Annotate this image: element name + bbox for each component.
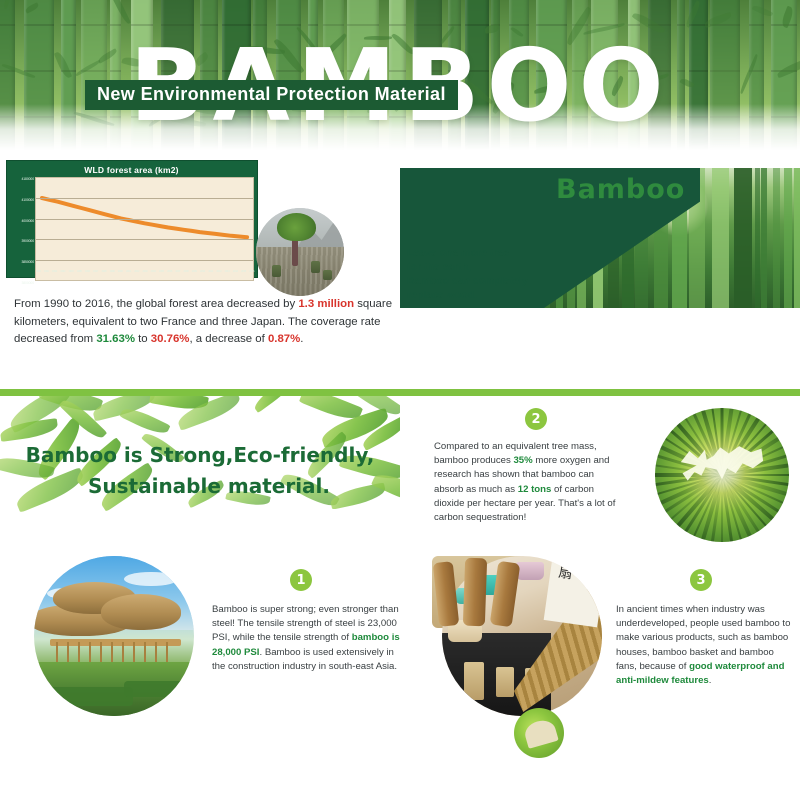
bamboo-cane [784,168,792,308]
bamboo-leaf [107,0,131,25]
chart-line-series [36,178,253,280]
forest-loss-paragraph: From 1990 to 2016, the global forest are… [14,296,394,349]
chart-x-tick-label: 2010 [198,270,206,278]
stat-co2: 12 tons [518,484,552,495]
chart-gridline [36,219,253,220]
photo-stump [311,261,320,273]
chart-x-tick-label: 2016 [248,270,256,278]
stat-coverage-before: 31.63% [96,333,135,345]
chart-x-tick-label: 2003 [141,270,149,278]
photo-stump [272,265,281,277]
chart-gridline [36,198,253,199]
garden-hedge [124,681,185,697]
bamboo-package [496,667,514,697]
stat-coverage-after: 30.76% [151,333,190,345]
bamboo-leaf [703,12,732,28]
bamboo-leaf [0,418,59,442]
lead-text-1: From 1990 to 2016, the global forest are… [14,298,280,310]
bamboo-leaf [251,396,297,413]
banner-wordmark: Bamboo [556,174,685,205]
bamboo-house-photo [34,556,194,716]
lead-text-7: a decrease of [196,333,268,345]
chart-x-tick-label: 2012 [215,270,223,278]
chart-y-tick-label: 4180000 [21,177,34,181]
garden-hedge [50,687,133,706]
bamboo-leaf [24,2,39,13]
stat-decrease: 0.87% [268,333,300,345]
lead-text-5: to [135,333,151,345]
chart-x-tick-label: 2007 [174,270,182,278]
chart-plot-area [35,177,254,281]
bamboo-cane [773,168,780,308]
chart-y-tick-label: 3850000 [21,260,34,264]
chart-x-tick-label: 2002 [133,270,141,278]
house-roof-right [101,594,181,629]
section-heading: Bamboo is Strong,Eco-friendly, Sustainab… [0,440,400,502]
chart-x-tick-label: 1996 [83,270,91,278]
bamboo-forest-banner: Bamboo Leave one more tree for the earth… [400,168,800,308]
chart-x-tick-label: 2005 [157,270,165,278]
fan-paper: 扇 [544,556,602,627]
bamboo-box [516,562,544,580]
badge-number-2: 2 [525,408,547,430]
chart-x-tick-label: 2014 [231,270,239,278]
chart-y-tick-label: 3800000 [21,281,34,285]
chart-x-tick-label: 1990 [34,270,42,278]
bamboo-products-collage-photo: 扇 [432,556,612,746]
bamboo-shoot-circle [514,708,564,758]
bamboo-leaf [3,0,12,9]
bamboo-cane [734,168,752,308]
chart-x-tick-label: 1999 [108,270,116,278]
photo-tree-crown [277,213,316,241]
banner-caption-line-1: Leave one more tree [407,246,528,260]
chart-gridline [36,239,253,240]
section-heading-line-1: Bamboo is Strong,Eco-friendly, [0,440,400,471]
chart-x-tick-label: 2011 [207,270,215,278]
chart-gridline [36,280,253,281]
chart-x-tick-label: 1992 [50,270,58,278]
badge-number-1: 1 [290,569,312,591]
chart-x-tick-label: 1997 [92,270,100,278]
lone-tree-among-stumps-photo [256,208,344,296]
fact-block-2: Compared to an equivalent tree mass, bam… [434,440,620,525]
chart-y-tick-label: 4100000 [21,198,34,202]
fan-calligraphy-character: 扇 [557,562,574,584]
lead-text-8: . [300,333,303,345]
bamboo-cane [712,168,729,308]
chart-x-tick-label: 2015 [239,270,247,278]
chart-x-tick-label: 2013 [223,270,231,278]
chart-y-axis: 4180000410000040000003900000385000038000… [9,177,35,281]
bamboo-cane [755,168,760,308]
chart-x-tick-label: 2001 [124,270,132,278]
chart-x-tick-label: 2004 [149,270,157,278]
chart-title: WLD forest area (km2) [9,163,254,177]
green-divider [0,389,800,396]
bamboo-shoot [522,717,558,749]
fact3-text-2: . [709,675,712,686]
forest-canopy-world-map-photo [655,408,789,542]
section-heading-line-2: Sustainable material. [0,471,400,502]
bamboo-cane [794,168,800,308]
chart-y-tick-label: 3900000 [21,239,34,243]
chart-gridline [36,260,253,261]
chart-x-tick-label: 1994 [67,270,75,278]
chart-x-axis: 1990199119921993199419951996199719981999… [33,270,257,278]
hero-banner: BAMBOO New Environmental Protection Mate… [0,0,800,150]
bamboo-leaf [684,0,702,28]
banner-caption-line-4: replace wood. [407,288,528,302]
chart-x-tick-label: 1995 [75,270,83,278]
badge-number-3: 3 [690,569,712,591]
fact-block-3: In ancient times when industry was under… [616,603,796,688]
chart-x-tick-label: 1993 [59,270,67,278]
chart-x-tick-label: 2009 [190,270,198,278]
chart-x-tick-label: 1998 [100,270,108,278]
chart-x-tick-label: 2006 [166,270,174,278]
photo-stump [323,270,332,280]
hero-subtitle-ribbon: New Environmental Protection Material [85,80,458,110]
bamboo-pole [433,561,460,627]
bamboo-pole [463,558,487,627]
forest-area-chart: WLD forest area (km2) 418000041000004000… [6,160,258,278]
banner-caption-line-2: for the earth, [407,260,528,274]
chart-body: 4180000410000040000003900000385000038000… [9,177,254,281]
banner-caption: Leave one more tree for the earth, Bambo… [407,246,528,302]
stat-oxygen: 35% [513,455,532,466]
bamboo-leaf [780,6,795,28]
chart-y-tick-label: 4000000 [21,219,34,223]
chart-x-tick-label: 2000 [116,270,124,278]
lead-text-6: , [189,333,192,345]
bamboo-package [464,662,484,700]
bamboo-cane [761,168,767,308]
stat-forest-loss: 1.3 million [298,298,354,310]
fact-block-1: Bamboo is super strong; even stronger th… [212,603,402,674]
bamboo-leaf [752,4,774,19]
banner-caption-line-3: Bamboo can completely [407,274,528,288]
chart-x-tick-label: 1991 [42,270,50,278]
lead-text-2: by [283,298,298,310]
chart-x-tick-label: 2008 [182,270,190,278]
